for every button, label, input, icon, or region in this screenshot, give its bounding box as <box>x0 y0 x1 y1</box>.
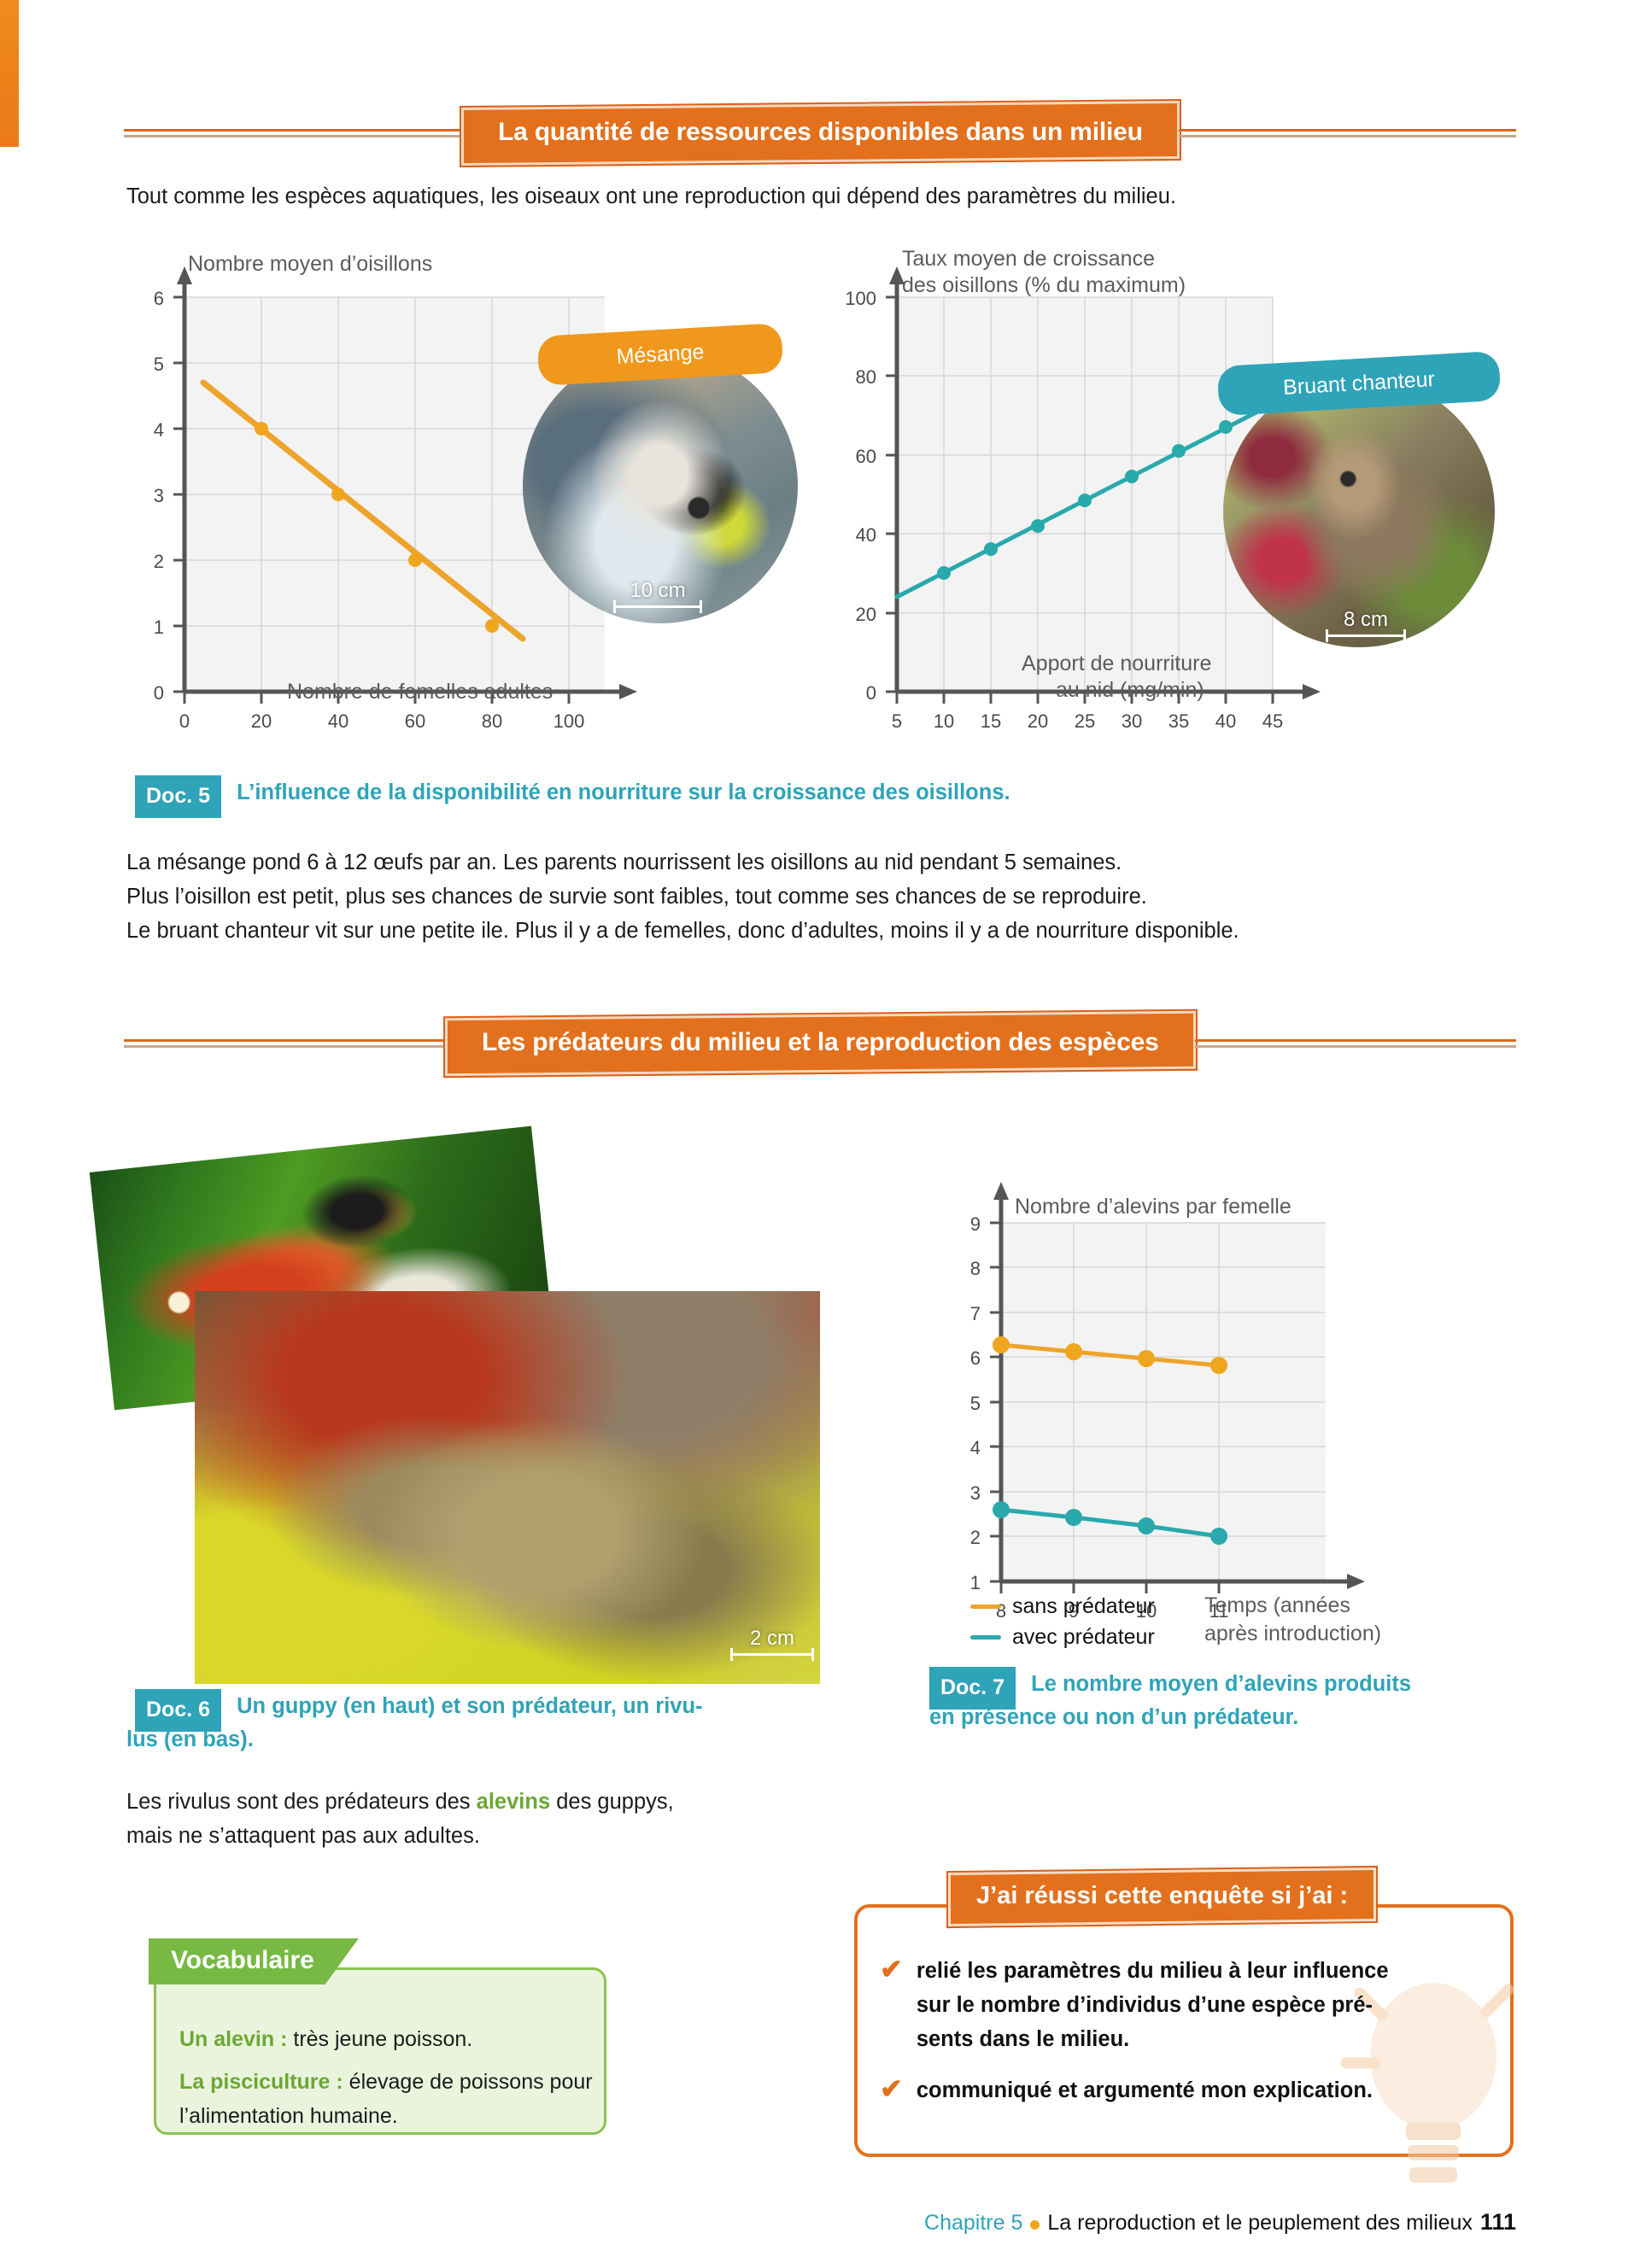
legend-item-sans-predateur: sans prédateur <box>970 1591 1155 1622</box>
svg-text:15: 15 <box>981 710 1001 732</box>
checklist-item-2-text: communiqué et argumenté mon explication. <box>917 2073 1472 2107</box>
banner-rule-left <box>124 129 461 138</box>
chart-bruant-ylabel-line2: des oisillons (% du maximum) <box>902 272 1295 299</box>
svg-text:20: 20 <box>251 710 272 732</box>
footer-chapter: Chapitre 5 <box>924 2211 1022 2236</box>
mesange-label-text: Mésange <box>616 340 705 370</box>
section-banner-2-box: Les prédateurs du milieu et la reproduct… <box>445 1011 1196 1076</box>
mesange-scalebar-text: 10 cm <box>630 579 685 603</box>
svg-text:40: 40 <box>856 524 876 546</box>
legend-swatch-avec-predateur <box>970 1635 1001 1640</box>
svg-text:5: 5 <box>970 1393 981 1414</box>
doc6-text-line2: mais ne s’attaquent pas aux adultes. <box>126 1819 827 1853</box>
chart-alevins: Nombre d’alevins par femelle Temps (anné… <box>931 1170 1409 1665</box>
section-banner-1-box: La quantité de ressources disponibles da… <box>461 101 1180 166</box>
footer-page-number: 111 <box>1480 2209 1516 2236</box>
svg-text:5: 5 <box>154 354 164 375</box>
svg-text:20: 20 <box>1028 710 1048 732</box>
legend-item-avec-predateur: avec prédateur <box>970 1622 1155 1652</box>
doc6-caption-line1: Un guppy (en haut) et son prédateur, un … <box>237 1694 702 1718</box>
footer-title: La reproduction et le peuplement des mil… <box>1047 2211 1473 2236</box>
mesange-scalebar: 10 cm <box>613 579 702 608</box>
svg-text:60: 60 <box>405 710 425 732</box>
vocabulaire-term-1: Un alevin : <box>179 2027 287 2051</box>
checklist-item-1-line1: relié les paramètres du milieu à leur in… <box>917 1959 1389 1983</box>
checklist-item-1: ✔ relié les paramètres du milieu à leur … <box>880 1954 1486 2056</box>
doc6-text-part-c: des guppys, <box>550 1790 674 1814</box>
rivulus-scalebar-bar <box>730 1653 814 1656</box>
doc5-caption-text: L’influence de la disponibilité en nourr… <box>237 780 1010 804</box>
doc6-text-highlight-alevins: alevins <box>477 1790 550 1814</box>
vocabulaire-box: Vocabulaire Un alevin : très jeune poiss… <box>154 1938 632 2152</box>
section-banner-1: La quantité de ressources disponibles da… <box>124 104 1516 162</box>
vocabulaire-entry-1: Un alevin : très jeune poisson. <box>179 2022 598 2056</box>
bruant-scalebar: 8 cm <box>1326 608 1406 637</box>
svg-text:6: 6 <box>154 288 164 309</box>
checklist-item-1-line3: sents dans le milieu. <box>917 2027 1129 2051</box>
doc7-caption-line2-wrap: en présence ou non d’un prédateur. <box>929 1701 1298 1733</box>
doc6-caption-line2: lus (en bas). <box>126 1727 254 1751</box>
bruant-label-text: Bruant chanteur <box>1282 367 1435 400</box>
svg-text:35: 35 <box>1168 710 1189 732</box>
vocabulaire-def-2: élevage de poissons pour <box>343 2070 593 2094</box>
doc6-caption-line2-wrap: lus (en bas). <box>126 1723 254 1756</box>
chart-alevins-ylabel: Nombre d’alevins par femelle <box>1015 1194 1442 1220</box>
bruant-scalebar-text: 8 cm <box>1344 608 1388 632</box>
svg-text:9: 9 <box>970 1213 981 1235</box>
vocabulaire-term-2: La pisciculture : <box>179 2070 343 2094</box>
svg-text:100: 100 <box>553 710 585 732</box>
chart-mesange-ylabel: Nombre moyen d’oisillons <box>188 251 547 278</box>
svg-text:100: 100 <box>845 288 876 309</box>
svg-text:2: 2 <box>154 551 164 572</box>
svg-text:3: 3 <box>970 1482 981 1504</box>
banner-rule-right-2 <box>1195 1039 1516 1049</box>
svg-text:0: 0 <box>179 710 190 732</box>
doc5-tag: Doc. 5 <box>135 775 221 818</box>
svg-text:60: 60 <box>856 446 876 467</box>
checklist-item-2: ✔ communiqué et argumenté mon explicatio… <box>880 2073 1486 2107</box>
chart-bruant-xlabel-line2: au nid (mg/min) <box>1056 677 1338 704</box>
svg-text:40: 40 <box>1215 710 1236 732</box>
doc5-caption-row: Doc. 5 L’influence de la disponibilité e… <box>135 775 1502 818</box>
svg-text:40: 40 <box>328 710 348 732</box>
doc5-text-line2: Plus l’oisillon est petit, plus ses chan… <box>126 880 1578 914</box>
vocabulaire-title-tab: Vocabulaire <box>149 1938 359 1984</box>
checklist-item-1-line2: sur le nombre d’individus d’une espèce p… <box>917 1993 1373 2017</box>
svg-text:5: 5 <box>892 710 902 732</box>
svg-text:0: 0 <box>154 682 164 704</box>
rivulus-photo <box>195 1291 820 1684</box>
svg-text:4: 4 <box>970 1437 981 1458</box>
vocabulaire-title: Vocabulaire <box>171 1946 314 1974</box>
svg-text:80: 80 <box>856 366 876 388</box>
svg-text:4: 4 <box>154 419 164 441</box>
svg-text:7: 7 <box>970 1303 981 1324</box>
svg-text:10: 10 <box>934 710 954 732</box>
section-banner-2-title: Les prédateurs du milieu et la reproduct… <box>482 1028 1159 1057</box>
svg-text:80: 80 <box>482 710 502 732</box>
banner-rule-left-2 <box>124 1039 445 1049</box>
vocabulaire-def-1: très jeune poisson. <box>287 2027 472 2051</box>
doc6-text-part-a: Les rivulus sont des prédateurs des <box>126 1790 477 1814</box>
checklist-header: J’ai réussi cette enquête si j’ai : <box>948 1868 1376 1926</box>
checkmark-icon-2: ✔ <box>880 2073 903 2107</box>
section-banner-1-title: La quantité de ressources disponibles da… <box>498 118 1143 147</box>
doc7-caption-line2: en présence ou non d’un prédateur. <box>929 1705 1298 1729</box>
legend-label-sans-predateur: sans prédateur <box>1012 1594 1155 1619</box>
svg-text:20: 20 <box>856 604 876 625</box>
svg-text:0: 0 <box>866 682 876 704</box>
doc5-text-line1: La mésange pond 6 à 12 œufs par an. Les … <box>126 845 1578 880</box>
legend-label-avec-predateur: avec prédateur <box>1012 1625 1155 1650</box>
svg-text:3: 3 <box>154 485 164 506</box>
svg-text:25: 25 <box>1075 710 1095 732</box>
banner-rule-right <box>1179 129 1516 138</box>
chart-bruant-ylabel-line1: Taux moyen de croissance <box>902 246 1261 272</box>
doc6-text-line1: Les rivulus sont des prédateurs des alev… <box>126 1785 827 1819</box>
svg-text:30: 30 <box>1122 710 1142 732</box>
svg-text:1: 1 <box>154 617 164 638</box>
page-footer: Chapitre 5 La reproduction et le peuplem… <box>924 2209 1516 2236</box>
chart-alevins-xlabel-line2: après introduction) <box>1204 1621 1478 1647</box>
doc5-text-line3: Le bruant chanteur vit sur une petite il… <box>126 914 1596 948</box>
chart-alevins-xlabel-line1: Temps (années <box>1204 1593 1461 1619</box>
chart-mesange-xlabel: Nombre de femelles adultes <box>287 679 663 705</box>
svg-text:2: 2 <box>970 1527 981 1548</box>
checkmark-icon-1: ✔ <box>880 1954 903 2056</box>
svg-text:45: 45 <box>1262 710 1283 732</box>
page-edge-accent <box>0 0 19 147</box>
rivulus-scalebar-text: 2 cm <box>750 1627 794 1651</box>
vocabulaire-entry-2: La pisciculture : élevage de poissons po… <box>179 2065 606 2099</box>
bruant-scalebar-bar <box>1326 634 1406 637</box>
intro-paragraph: Tout comme les espèces aquatiques, les o… <box>126 179 1527 213</box>
checklist-title: J’ai réussi cette enquête si j’ai : <box>976 1882 1348 1910</box>
doc7-caption-line1: Le nombre moyen d’alevins produits <box>1031 1672 1411 1696</box>
chart-bruant-xlabel-line1: Apport de nourriture <box>1022 651 1303 677</box>
checklist-item-1-text: relié les paramètres du milieu à leur in… <box>917 1954 1472 2056</box>
vocabulaire-def-2-cont: l’alimentation humaine. <box>179 2099 606 2133</box>
bruant-photo <box>1223 376 1495 647</box>
rivulus-scalebar: 2 cm <box>730 1627 814 1656</box>
svg-text:6: 6 <box>970 1347 981 1369</box>
chart-alevins-legend: sans prédateur avec prédateur <box>970 1591 1155 1652</box>
svg-text:8: 8 <box>970 1258 981 1279</box>
legend-swatch-sans-predateur <box>970 1605 1001 1609</box>
mesange-scalebar-bar <box>613 605 702 608</box>
footer-dot-icon <box>1030 2220 1040 2230</box>
section-banner-2: Les prédateurs du milieu et la reproduct… <box>124 1014 1516 1073</box>
